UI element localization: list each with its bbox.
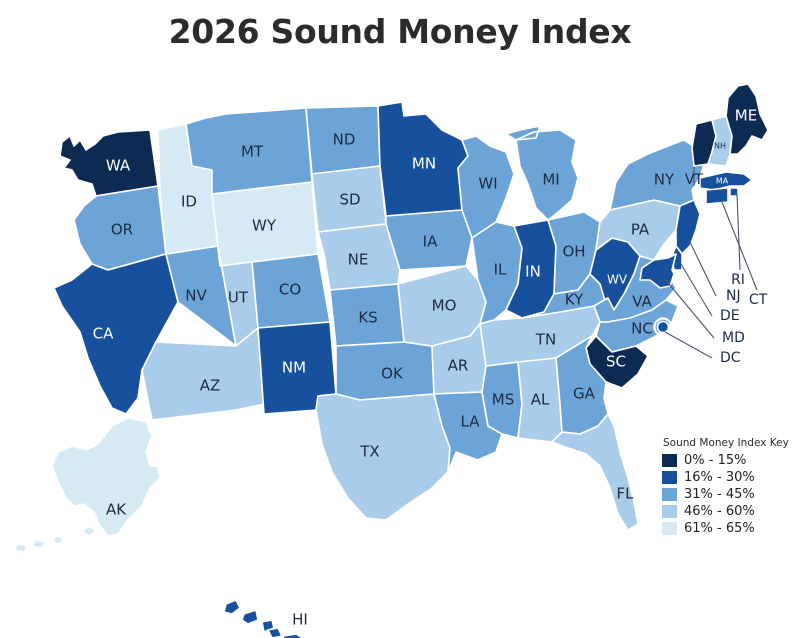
state-NJ[interactable] [676, 200, 700, 254]
legend-row: 0% - 15% [662, 453, 798, 468]
state-HI[interactable]: HI [224, 600, 312, 638]
state-CO[interactable]: CO [252, 254, 330, 328]
legend-swatch [662, 454, 677, 467]
state-TX[interactable]: TX [316, 394, 450, 520]
callout-label-CT: CT [749, 292, 768, 308]
legend-swatch [662, 522, 677, 535]
state-ME[interactable]: ME [726, 84, 768, 154]
state-MS[interactable]: MS [482, 362, 522, 438]
callout-label-RI: RI [731, 272, 745, 288]
legend-label: 61% - 65% [684, 521, 755, 536]
legend: Sound Money Index Key 0% - 15% 16% - 30%… [662, 437, 798, 538]
state-MA[interactable]: MA [700, 172, 752, 190]
callout-label-NJ: NJ [726, 288, 741, 304]
state-KS[interactable]: KS [330, 284, 404, 346]
legend-row: 16% - 30% [662, 470, 798, 485]
state-NE[interactable]: NE [318, 224, 400, 290]
state-label-HI: HI [292, 611, 308, 629]
state-AL[interactable]: AL [518, 358, 562, 442]
state-OK[interactable]: OK [336, 342, 434, 400]
state-DC[interactable] [655, 319, 672, 336]
legend-title: Sound Money Index Key [663, 437, 798, 449]
state-WY[interactable]: WY [212, 182, 318, 266]
legend-label: 0% - 15% [684, 453, 746, 468]
us-map-svg: WA OR CA NV ID MT WY UT AZ CO [0, 74, 800, 638]
legend-row: 31% - 45% [662, 487, 798, 502]
state-ND[interactable]: ND [306, 106, 380, 174]
state-SD[interactable]: SD [312, 166, 386, 232]
callout-label-DC: DC [720, 350, 741, 366]
state-AK[interactable]: AK [14, 418, 160, 552]
legend-label: 31% - 45% [684, 487, 755, 502]
state-WA[interactable]: WA [60, 130, 158, 196]
callout-label-DE: DE [720, 308, 740, 324]
legend-label: 16% - 30% [684, 470, 755, 485]
state-MN[interactable]: MN [378, 102, 468, 216]
state-MI[interactable]: MI [506, 126, 578, 220]
state-CT[interactable] [706, 188, 728, 204]
choropleth-map: WA OR CA NV ID MT WY UT AZ CO [0, 74, 800, 638]
callout-label-MD: MD [722, 330, 745, 346]
legend-swatch [662, 488, 677, 501]
legend-row: 46% - 60% [662, 504, 798, 519]
legend-swatch [662, 471, 677, 484]
state-IA[interactable]: IA [386, 210, 472, 270]
page-title: 2026 Sound Money Index [0, 12, 800, 51]
legend-row: 61% - 65% [662, 521, 798, 536]
callout-label-VT: VT [685, 172, 704, 188]
state-WI[interactable]: WI [458, 136, 514, 238]
state-AZ[interactable]: AZ [142, 328, 264, 420]
legend-swatch [662, 505, 677, 518]
legend-label: 46% - 60% [684, 504, 755, 519]
